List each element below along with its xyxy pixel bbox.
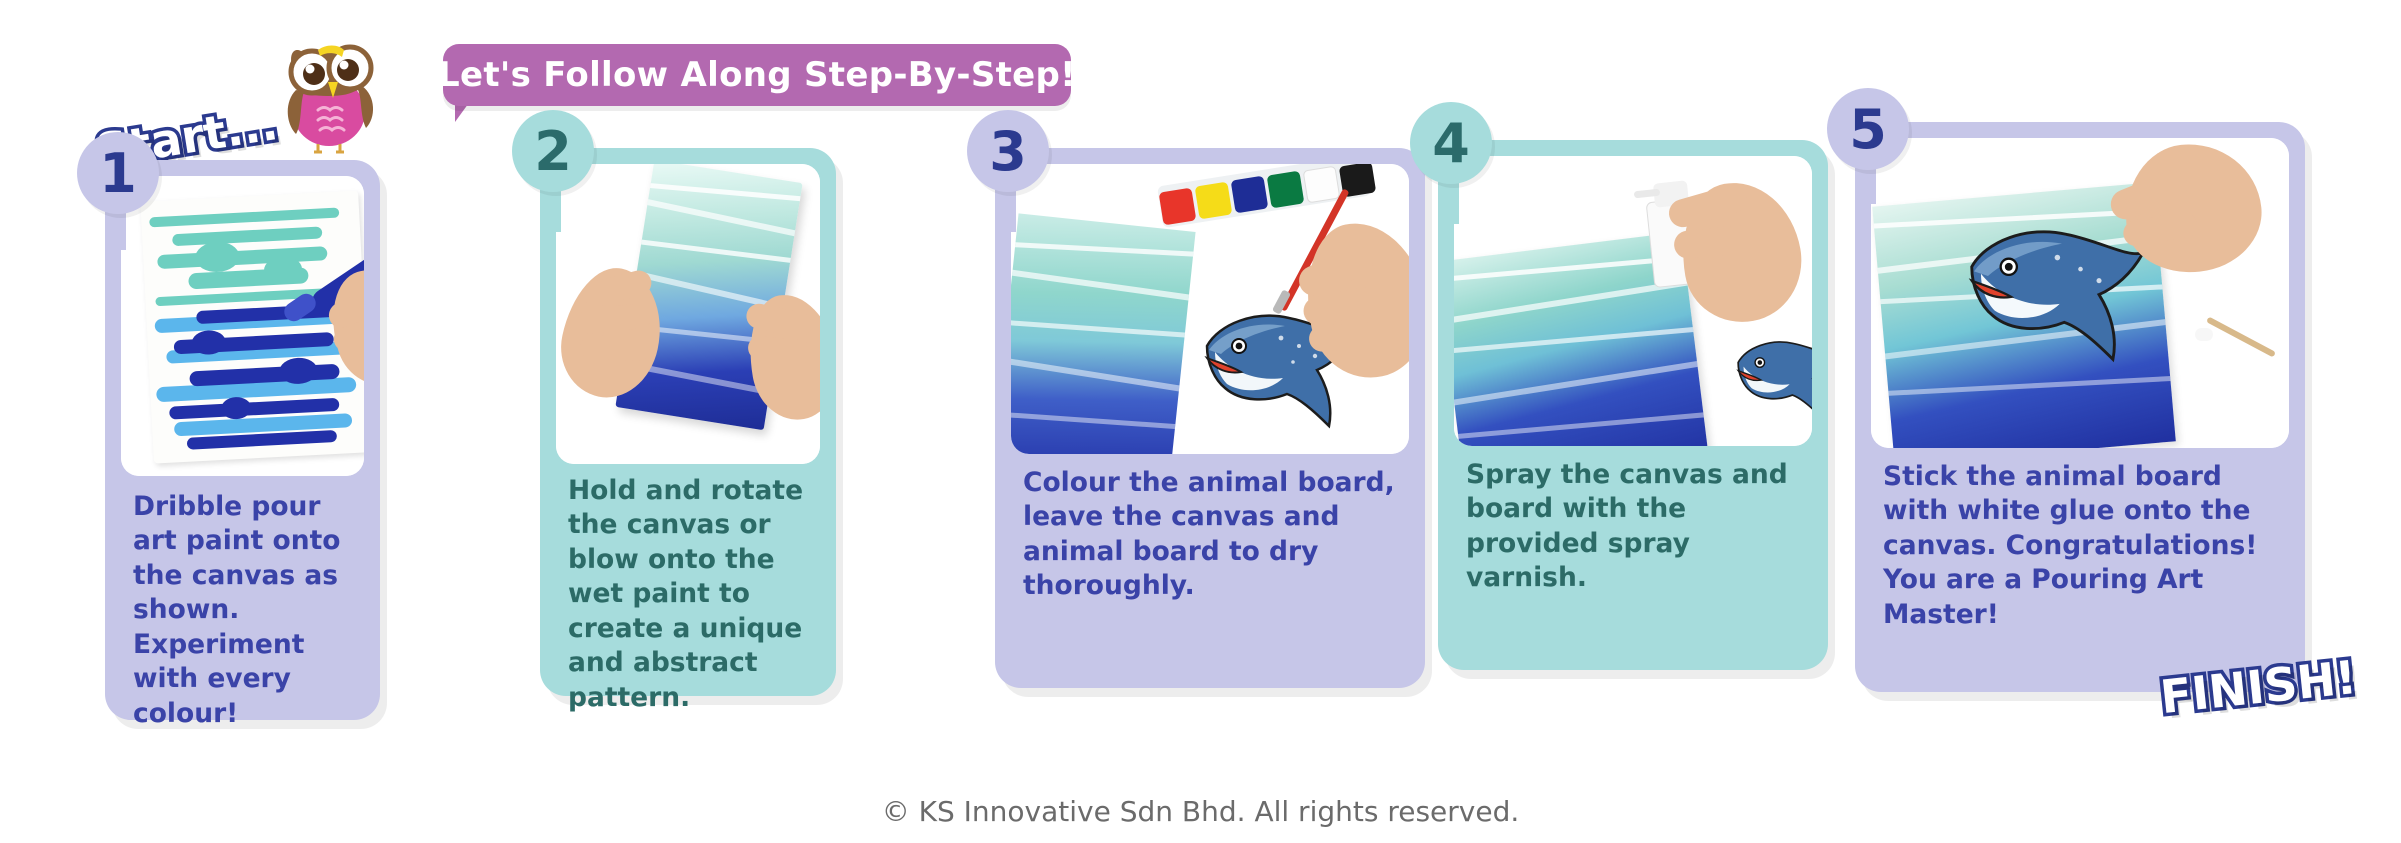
step-4-photo: [1454, 156, 1812, 446]
step-3-number: 3: [989, 120, 1027, 183]
banner-title: Let's Follow Along Step-By-Step!: [438, 55, 1076, 95]
step-card-5: 5 Stick the animal board with white glue…: [1855, 122, 2305, 692]
step-card-2: 2 Hold and rotate the canvas or blow ont…: [540, 148, 836, 696]
step-3-number-badge: 3: [967, 110, 1049, 192]
step-3-caption: Colour the animal board, leave the canva…: [1023, 466, 1407, 604]
poster-root: Let's Follow Along Step-By-Step! Start..…: [0, 0, 2401, 843]
step-1-number-badge: 1: [77, 132, 159, 214]
step-card-4: 4 Spray the canvas and board with the pr…: [1438, 140, 1828, 670]
owl-mascot-icon: [262, 24, 392, 154]
step-card-1: 1 Dribble pour art paint onto the canvas…: [105, 160, 380, 720]
paint-pot-green: [1267, 171, 1305, 209]
paint-pot-white: [1303, 166, 1341, 204]
paint-pot-blue: [1231, 176, 1269, 214]
step-2-caption: Hold and rotate the canvas or blow onto …: [568, 474, 818, 715]
step-5-caption: Stick the animal board with white glue o…: [1883, 460, 2287, 632]
step-2-photo: [556, 164, 820, 464]
step-3-photo: [1011, 164, 1409, 454]
step-1-photo: [121, 176, 364, 476]
step-2-number-badge: 2: [512, 110, 594, 192]
step-4-number: 4: [1432, 112, 1470, 175]
step-2-number: 2: [534, 120, 572, 183]
title-banner: Let's Follow Along Step-By-Step!: [443, 44, 1071, 106]
step-5-photo: [1871, 138, 2289, 448]
step-1-number: 1: [99, 142, 137, 205]
step-4-caption: Spray the canvas and board with the prov…: [1466, 458, 1810, 596]
step-5-number-badge: 5: [1827, 88, 1909, 170]
step-4-number-badge: 4: [1410, 102, 1492, 184]
step-1-caption: Dribble pour art paint onto the canvas a…: [133, 490, 362, 731]
step-card-3: 3 Colour the animal board, leave the can…: [995, 148, 1425, 688]
paint-pot-yellow: [1195, 182, 1233, 220]
footer-copyright: © KS Innovative Sdn Bhd. All rights rese…: [0, 795, 2401, 828]
step-5-number: 5: [1849, 98, 1887, 161]
paint-pot-red: [1159, 188, 1197, 226]
